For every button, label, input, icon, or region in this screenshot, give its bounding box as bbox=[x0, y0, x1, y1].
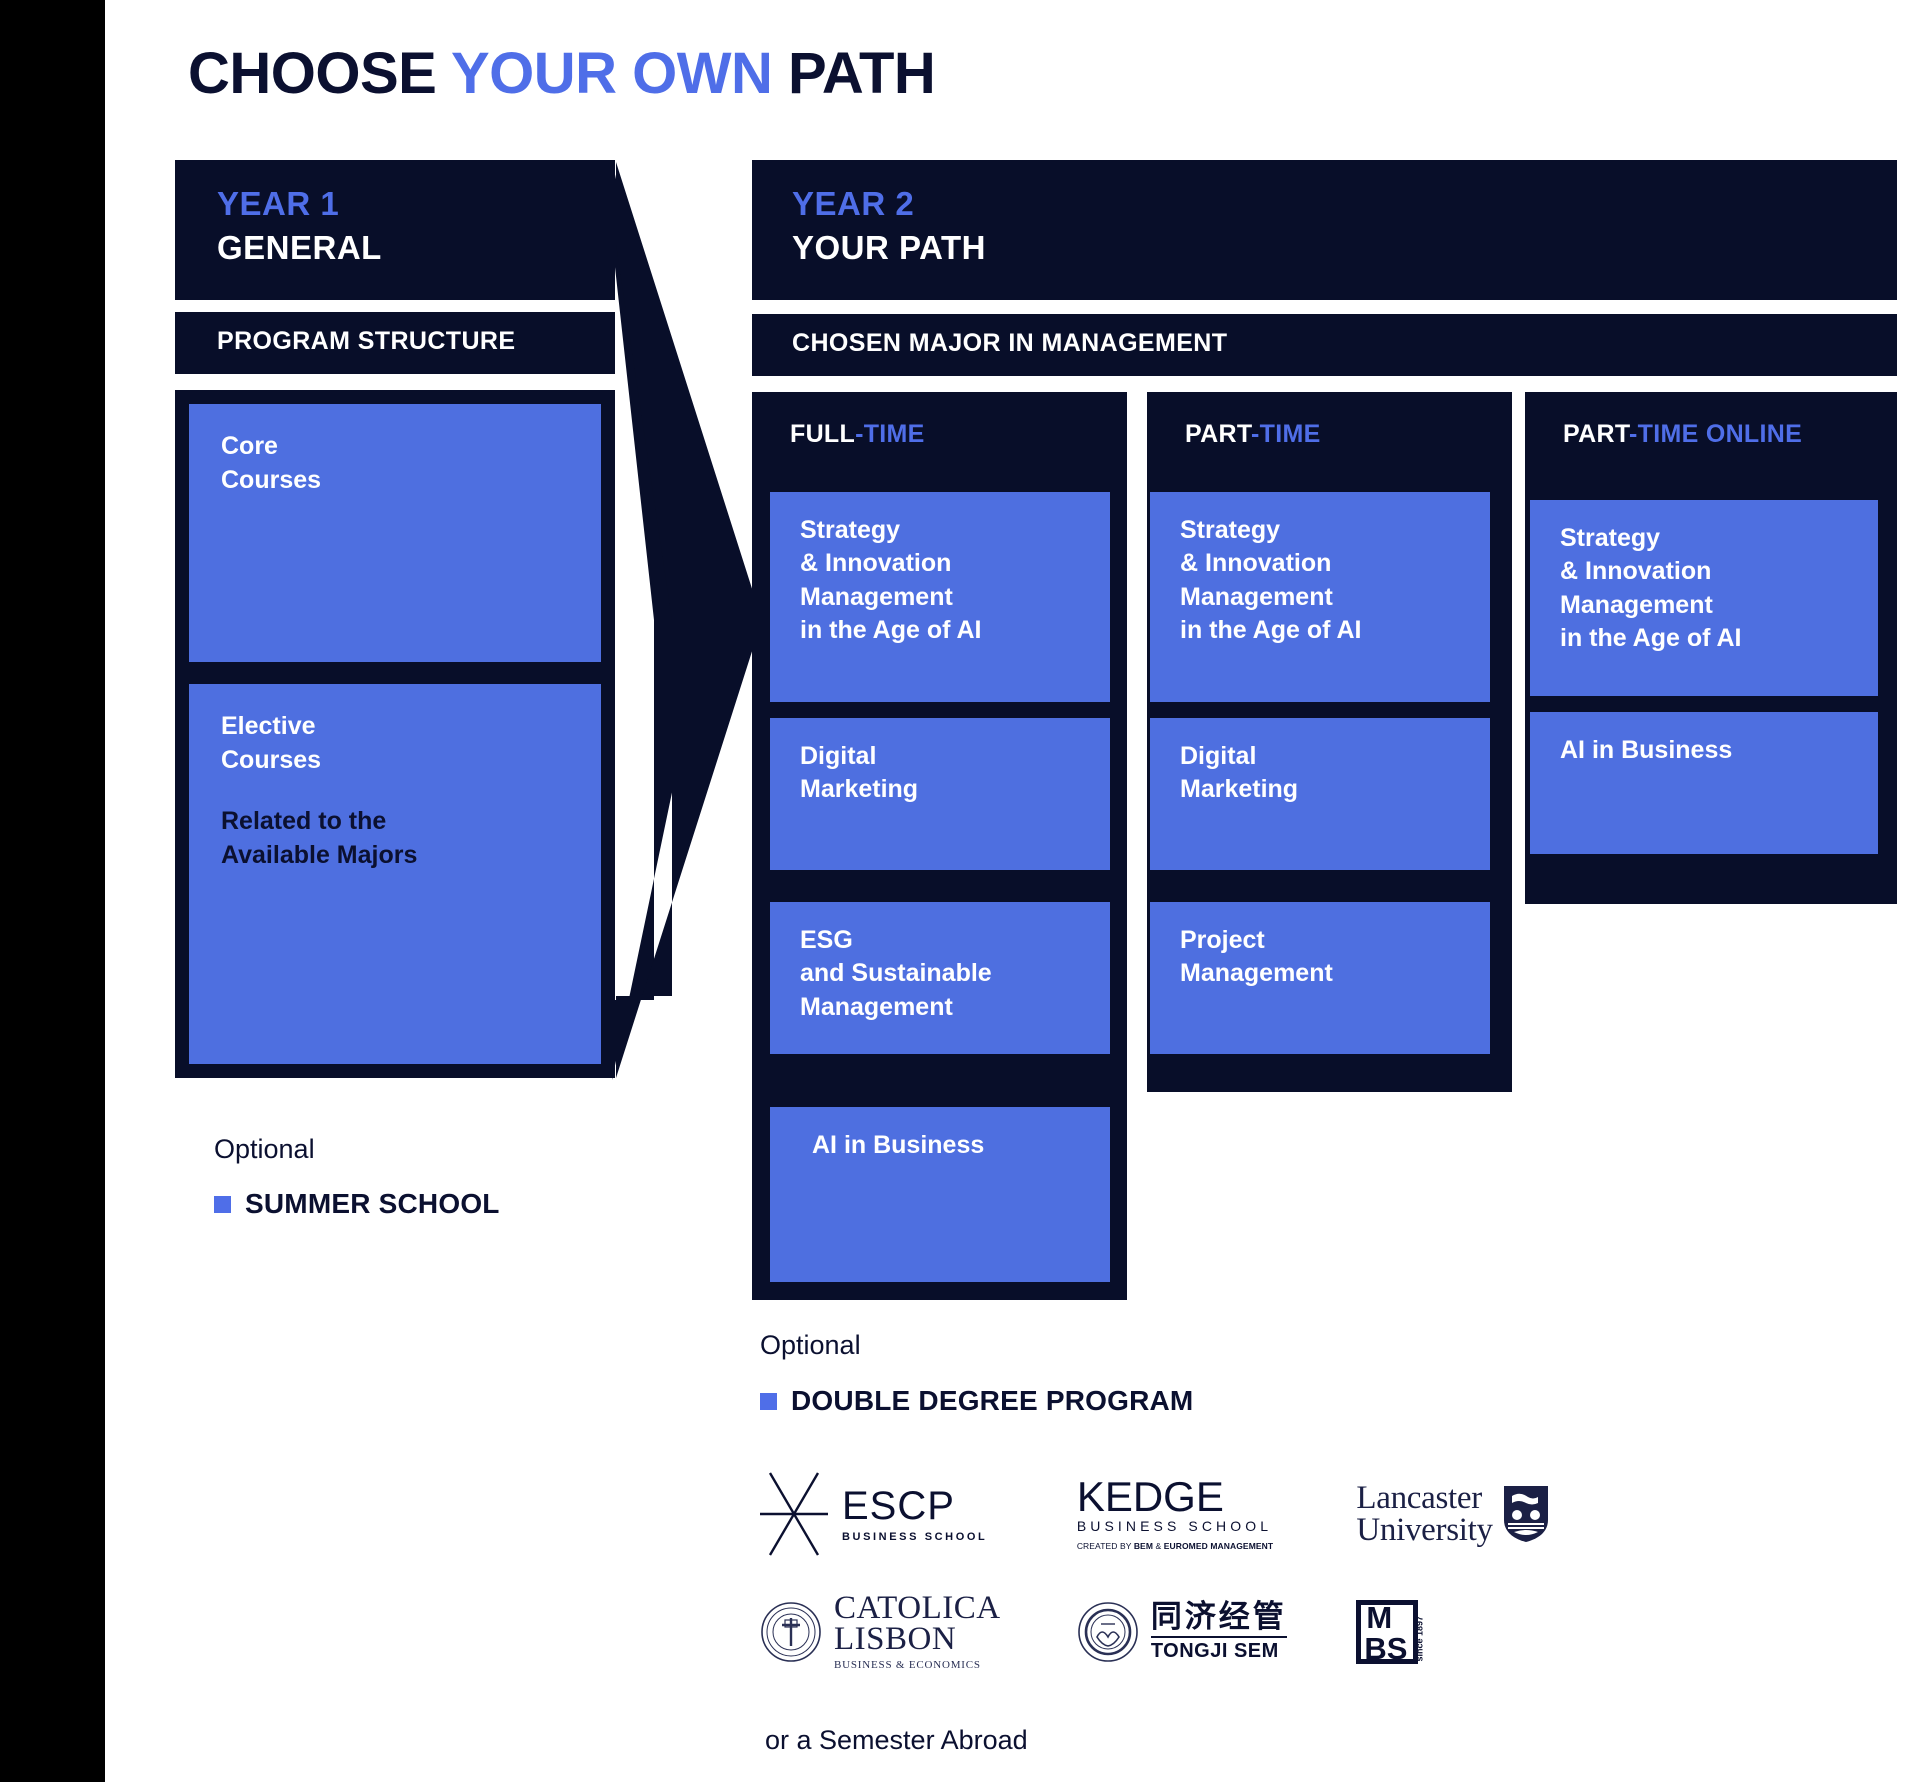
partner-logo-kedge[interactable]: KEDGE BUSINESS SCHOOL CREATED BY BEM & E… bbox=[1077, 1477, 1357, 1552]
year2-double-degree-row[interactable]: DOUBLE DEGREE PROGRAM bbox=[760, 1385, 1193, 1417]
course-box-pt-strategy[interactable]: Strategy & Innovation Management in the … bbox=[1150, 492, 1490, 702]
kedge-name: KEDGE bbox=[1077, 1477, 1273, 1517]
partner-logo-catolica[interactable]: CATOLICA LISBON BUSINESS & ECONOMICS bbox=[760, 1593, 1077, 1672]
column-part-time-header: PART-TIME bbox=[1147, 392, 1512, 449]
catolica-name-line2: LISBON bbox=[834, 1624, 1001, 1655]
square-bullet-icon bbox=[214, 1196, 231, 1213]
course-line: AI in Business bbox=[1560, 734, 1862, 767]
year1-sub-label: GENERAL bbox=[217, 226, 615, 270]
parttime-header-blue: -TIME bbox=[1251, 420, 1321, 448]
course-line: Digital bbox=[800, 740, 1094, 773]
column-part-time-online-header: PART-TIME ONLINE bbox=[1525, 392, 1897, 449]
course-line: Management bbox=[800, 991, 1094, 1024]
flow-arrow-icon bbox=[612, 160, 762, 1080]
title-part-yourown: YOUR OWN bbox=[451, 41, 788, 106]
course-line: & Innovation bbox=[800, 547, 1094, 580]
year1-program-structure-bar: PROGRAM STRUCTURE bbox=[175, 312, 615, 374]
elective-note-1: Related to the bbox=[221, 805, 601, 839]
course-line: in the Age of AI bbox=[800, 614, 1094, 647]
column-full-time-header: FULL-TIME bbox=[752, 392, 1127, 449]
course-box-pto-strategy[interactable]: Strategy & Innovation Management in the … bbox=[1530, 500, 1878, 696]
year2-chosen-major-label: CHOSEN MAJOR IN MANAGEMENT bbox=[792, 329, 1897, 358]
lancaster-name-line2: University bbox=[1356, 1514, 1492, 1546]
page-title: CHOOSE YOUR OWN PATH bbox=[188, 40, 935, 107]
core-line-2: Courses bbox=[221, 464, 601, 498]
course-line: ESG bbox=[800, 924, 1094, 957]
parttimeonline-header-blue: -TIME ONLINE bbox=[1629, 420, 1802, 448]
escp-name: ESCP bbox=[842, 1486, 987, 1526]
square-bullet-icon bbox=[760, 1393, 777, 1410]
course-box-pt-digital-marketing[interactable]: Digital Marketing bbox=[1150, 718, 1490, 870]
kedge-note: CREATED BY BEM & EUROMED MANAGEMENT bbox=[1077, 1541, 1273, 1551]
fulltime-header-white: FULL bbox=[790, 420, 855, 448]
course-line: Management bbox=[1180, 581, 1474, 614]
course-line: in the Age of AI bbox=[1180, 614, 1474, 647]
course-line: Strategy bbox=[800, 514, 1094, 547]
course-box-ft-digital-marketing[interactable]: Digital Marketing bbox=[770, 718, 1110, 870]
course-line: Management bbox=[1560, 589, 1862, 622]
mbs-since-label: since 1897 bbox=[1414, 1616, 1424, 1662]
course-line: Management bbox=[1180, 957, 1474, 990]
partner-logo-row-2: CATOLICA LISBON BUSINESS & ECONOMICS bbox=[760, 1573, 1580, 1691]
parttime-header-white: PART bbox=[1185, 420, 1251, 448]
tongji-name-en: TONGJI SEM bbox=[1151, 1640, 1287, 1663]
course-box-pto-ai-in-business[interactable]: AI in Business bbox=[1530, 712, 1878, 854]
course-line: & Innovation bbox=[1560, 555, 1862, 588]
catolica-name-line1: CATOLICA bbox=[834, 1593, 1001, 1624]
year1-core-courses-box[interactable]: Core Courses bbox=[189, 404, 601, 662]
semester-abroad-note: or a Semester Abroad bbox=[765, 1725, 1028, 1756]
course-line: & Innovation bbox=[1180, 547, 1474, 580]
course-line: AI in Business bbox=[812, 1129, 1094, 1162]
left-black-gutter bbox=[0, 0, 105, 1782]
partner-logo-mbs[interactable]: M BS since 1897 bbox=[1356, 1600, 1580, 1664]
kedge-tagline: BUSINESS SCHOOL bbox=[1077, 1518, 1273, 1534]
core-line-1: Core bbox=[221, 430, 601, 464]
title-part-choose: CHOOSE bbox=[188, 41, 451, 106]
catolica-seal-icon bbox=[760, 1601, 822, 1663]
partner-logo-lancaster[interactable]: Lancaster University bbox=[1356, 1482, 1580, 1546]
year2-year-label: YEAR 2 bbox=[792, 182, 1897, 226]
course-line: and Sustainable bbox=[800, 957, 1094, 990]
year1-program-structure-label: PROGRAM STRUCTURE bbox=[217, 327, 615, 356]
escp-star-icon bbox=[760, 1471, 834, 1557]
parttimeonline-header-white: PART bbox=[1563, 420, 1629, 448]
partner-logo-row-1: ESCP BUSINESS SCHOOL KEDGE BUSINESS SCHO… bbox=[760, 1455, 1580, 1573]
course-line: Management bbox=[800, 581, 1094, 614]
course-box-ft-esg[interactable]: ESG and Sustainable Management bbox=[770, 902, 1110, 1054]
course-line: in the Age of AI bbox=[1560, 622, 1862, 655]
fulltime-header-blue: -TIME bbox=[855, 420, 925, 448]
year1-optional-label: Optional bbox=[214, 1134, 315, 1165]
year1-summer-school-row[interactable]: SUMMER SCHOOL bbox=[214, 1188, 500, 1220]
course-box-pt-project-management[interactable]: Project Management bbox=[1150, 902, 1490, 1054]
year1-year-label: YEAR 1 bbox=[217, 182, 615, 226]
partner-logo-tongji[interactable]: 同济经管 TONGJI SEM bbox=[1077, 1601, 1357, 1664]
year2-sub-label: YOUR PATH bbox=[792, 226, 1897, 270]
mbs-letter-m: M bbox=[1366, 1602, 1392, 1633]
course-box-ft-ai-in-business[interactable]: AI in Business bbox=[770, 1107, 1110, 1282]
tongji-rule bbox=[1151, 1636, 1287, 1638]
course-box-ft-strategy[interactable]: Strategy & Innovation Management in the … bbox=[770, 492, 1110, 702]
course-line: Marketing bbox=[1180, 773, 1474, 806]
lancaster-shield-icon bbox=[1502, 1484, 1550, 1544]
slide-canvas: CHOOSE YOUR OWN PATH YEAR 1 GENERAL PROG… bbox=[0, 0, 1920, 1782]
tongji-seal-icon bbox=[1077, 1601, 1139, 1663]
partner-logos: ESCP BUSINESS SCHOOL KEDGE BUSINESS SCHO… bbox=[760, 1455, 1580, 1691]
course-line: Marketing bbox=[800, 773, 1094, 806]
right-white-gutter bbox=[1900, 0, 1920, 1782]
title-part-path: PATH bbox=[788, 41, 935, 106]
lancaster-name-line1: Lancaster bbox=[1356, 1482, 1492, 1514]
year2-optional-label: Optional bbox=[760, 1330, 861, 1361]
partner-logo-escp[interactable]: ESCP BUSINESS SCHOOL bbox=[760, 1471, 1077, 1557]
double-degree-label: DOUBLE DEGREE PROGRAM bbox=[791, 1385, 1193, 1417]
year1-elective-courses-box[interactable]: Elective Courses Related to the Availabl… bbox=[189, 684, 601, 1064]
year2-header: YEAR 2 YOUR PATH bbox=[752, 160, 1897, 300]
year1-header: YEAR 1 GENERAL bbox=[175, 160, 615, 300]
course-line: Strategy bbox=[1180, 514, 1474, 547]
elective-line-1: Elective bbox=[221, 710, 601, 744]
elective-note-2: Available Majors bbox=[221, 839, 601, 873]
summer-school-label: SUMMER SCHOOL bbox=[245, 1188, 500, 1220]
course-line: Strategy bbox=[1560, 522, 1862, 555]
tongji-name-cn: 同济经管 bbox=[1151, 1601, 1287, 1634]
elective-line-2: Courses bbox=[221, 744, 601, 778]
course-line: Digital bbox=[1180, 740, 1474, 773]
year2-chosen-major-bar: CHOSEN MAJOR IN MANAGEMENT bbox=[752, 314, 1897, 376]
catolica-tagline: BUSINESS & ECONOMICS bbox=[834, 1659, 1001, 1671]
course-line: Project bbox=[1180, 924, 1474, 957]
escp-tagline: BUSINESS SCHOOL bbox=[842, 1531, 987, 1543]
mbs-letter-bs: BS bbox=[1364, 1633, 1407, 1664]
